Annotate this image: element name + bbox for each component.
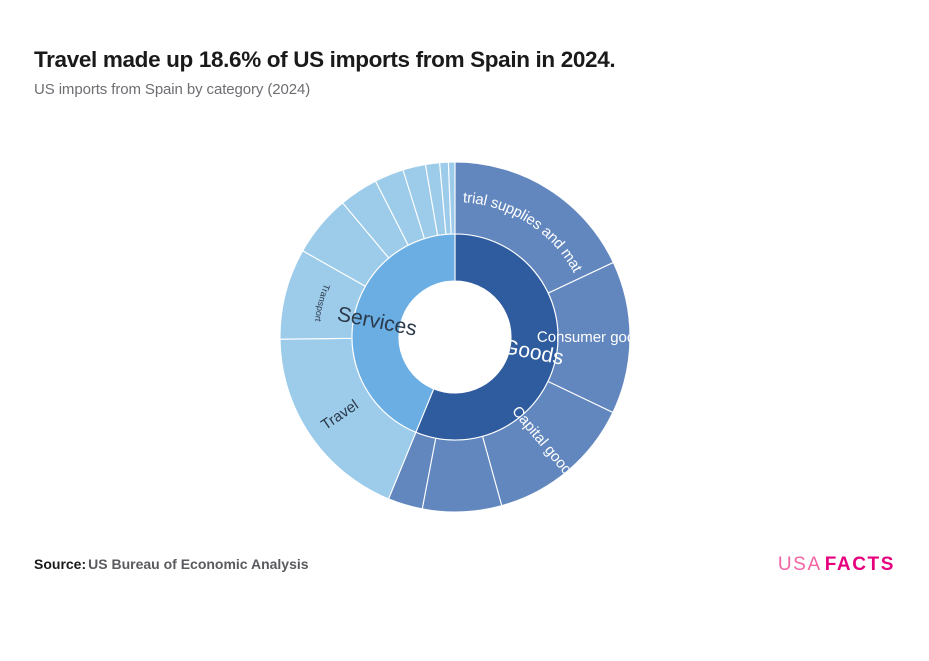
sunburst-chart: Industrial supplies and materialsConsume… bbox=[0, 120, 929, 530]
brand-usa-text: USA bbox=[778, 554, 822, 576]
chart-header: Travel made up 18.6% of US imports from … bbox=[34, 46, 894, 99]
source-label: Source: bbox=[34, 556, 86, 572]
chart-footer: Source:US Bureau of Economic Analysis US… bbox=[0, 548, 929, 588]
source-line: Source:US Bureau of Economic Analysis bbox=[34, 555, 309, 573]
page-title: Travel made up 18.6% of US imports from … bbox=[34, 46, 894, 73]
usafacts-logo[interactable]: USAFACTS bbox=[778, 554, 895, 576]
chart-subtitle: US imports from Spain by category (2024) bbox=[34, 81, 894, 99]
slice-label-consumer-goods: Consumer goods bbox=[537, 329, 651, 346]
brand-facts-text: FACTS bbox=[825, 554, 895, 576]
chart-page: Travel made up 18.6% of US imports from … bbox=[0, 0, 929, 661]
sunburst-svg: Industrial supplies and materialsConsume… bbox=[0, 120, 929, 530]
source-value: US Bureau of Economic Analysis bbox=[88, 556, 308, 572]
